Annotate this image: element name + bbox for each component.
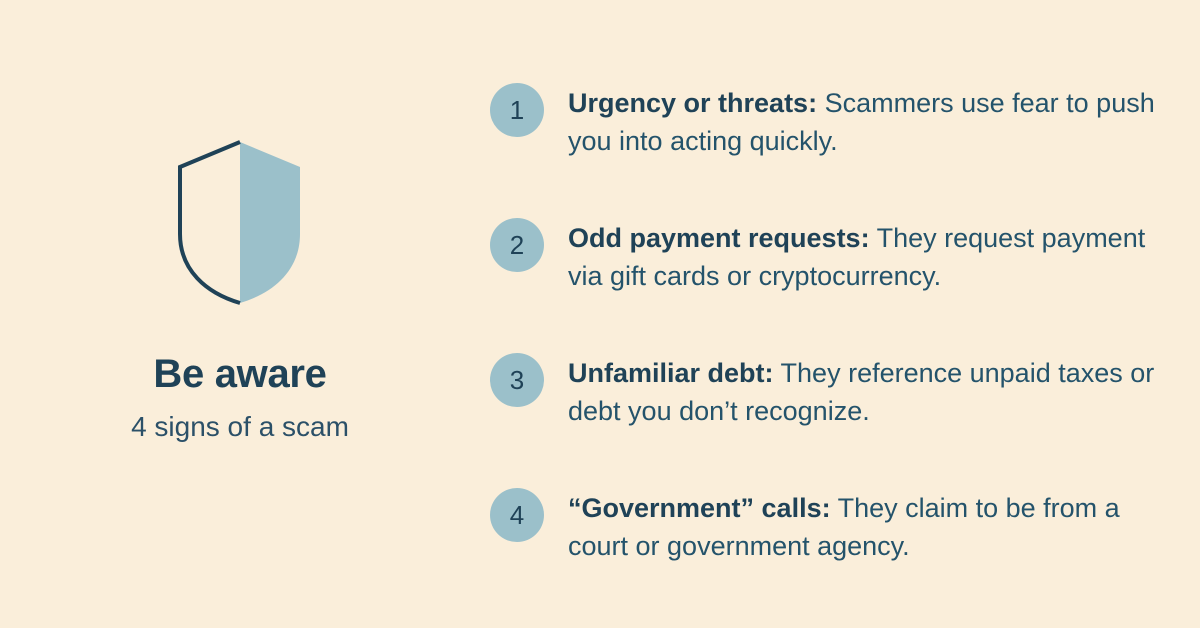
sign-description: Unfamiliar debt: They reference unpaid t… — [568, 353, 1168, 430]
left-panel: Be aware 4 signs of a scam — [0, 0, 480, 628]
sign-number-badge: 1 — [490, 83, 544, 137]
sign-number-badge: 4 — [490, 488, 544, 542]
shield-icon — [178, 140, 302, 306]
list-item: 4 “Government” calls: They claim to be f… — [480, 488, 1200, 623]
page-title: Be aware — [153, 352, 326, 396]
shield-right-half — [240, 142, 300, 303]
sign-lead: Unfamiliar debt: — [568, 358, 774, 388]
sign-lead: “Government” calls: — [568, 493, 831, 523]
sign-description: Urgency or threats: Scammers use fear to… — [568, 83, 1168, 160]
sign-lead: Odd payment requests: — [568, 223, 870, 253]
list-item: 1 Urgency or threats: Scammers use fear … — [480, 83, 1200, 218]
page-subtitle: 4 signs of a scam — [131, 410, 349, 444]
sign-lead: Urgency or threats: — [568, 88, 817, 118]
list-item: 3 Unfamiliar debt: They reference unpaid… — [480, 353, 1200, 488]
scam-awareness-infographic: Be aware 4 signs of a scam 1 Urgency or … — [0, 0, 1200, 628]
sign-description: Odd payment requests: They request payme… — [568, 218, 1168, 295]
sign-number-badge: 3 — [490, 353, 544, 407]
signs-list: 1 Urgency or threats: Scammers use fear … — [480, 0, 1200, 628]
sign-description: “Government” calls: They claim to be fro… — [568, 488, 1168, 565]
list-item: 2 Odd payment requests: They request pay… — [480, 218, 1200, 353]
shield-left-outline — [180, 142, 240, 303]
sign-number-badge: 2 — [490, 218, 544, 272]
